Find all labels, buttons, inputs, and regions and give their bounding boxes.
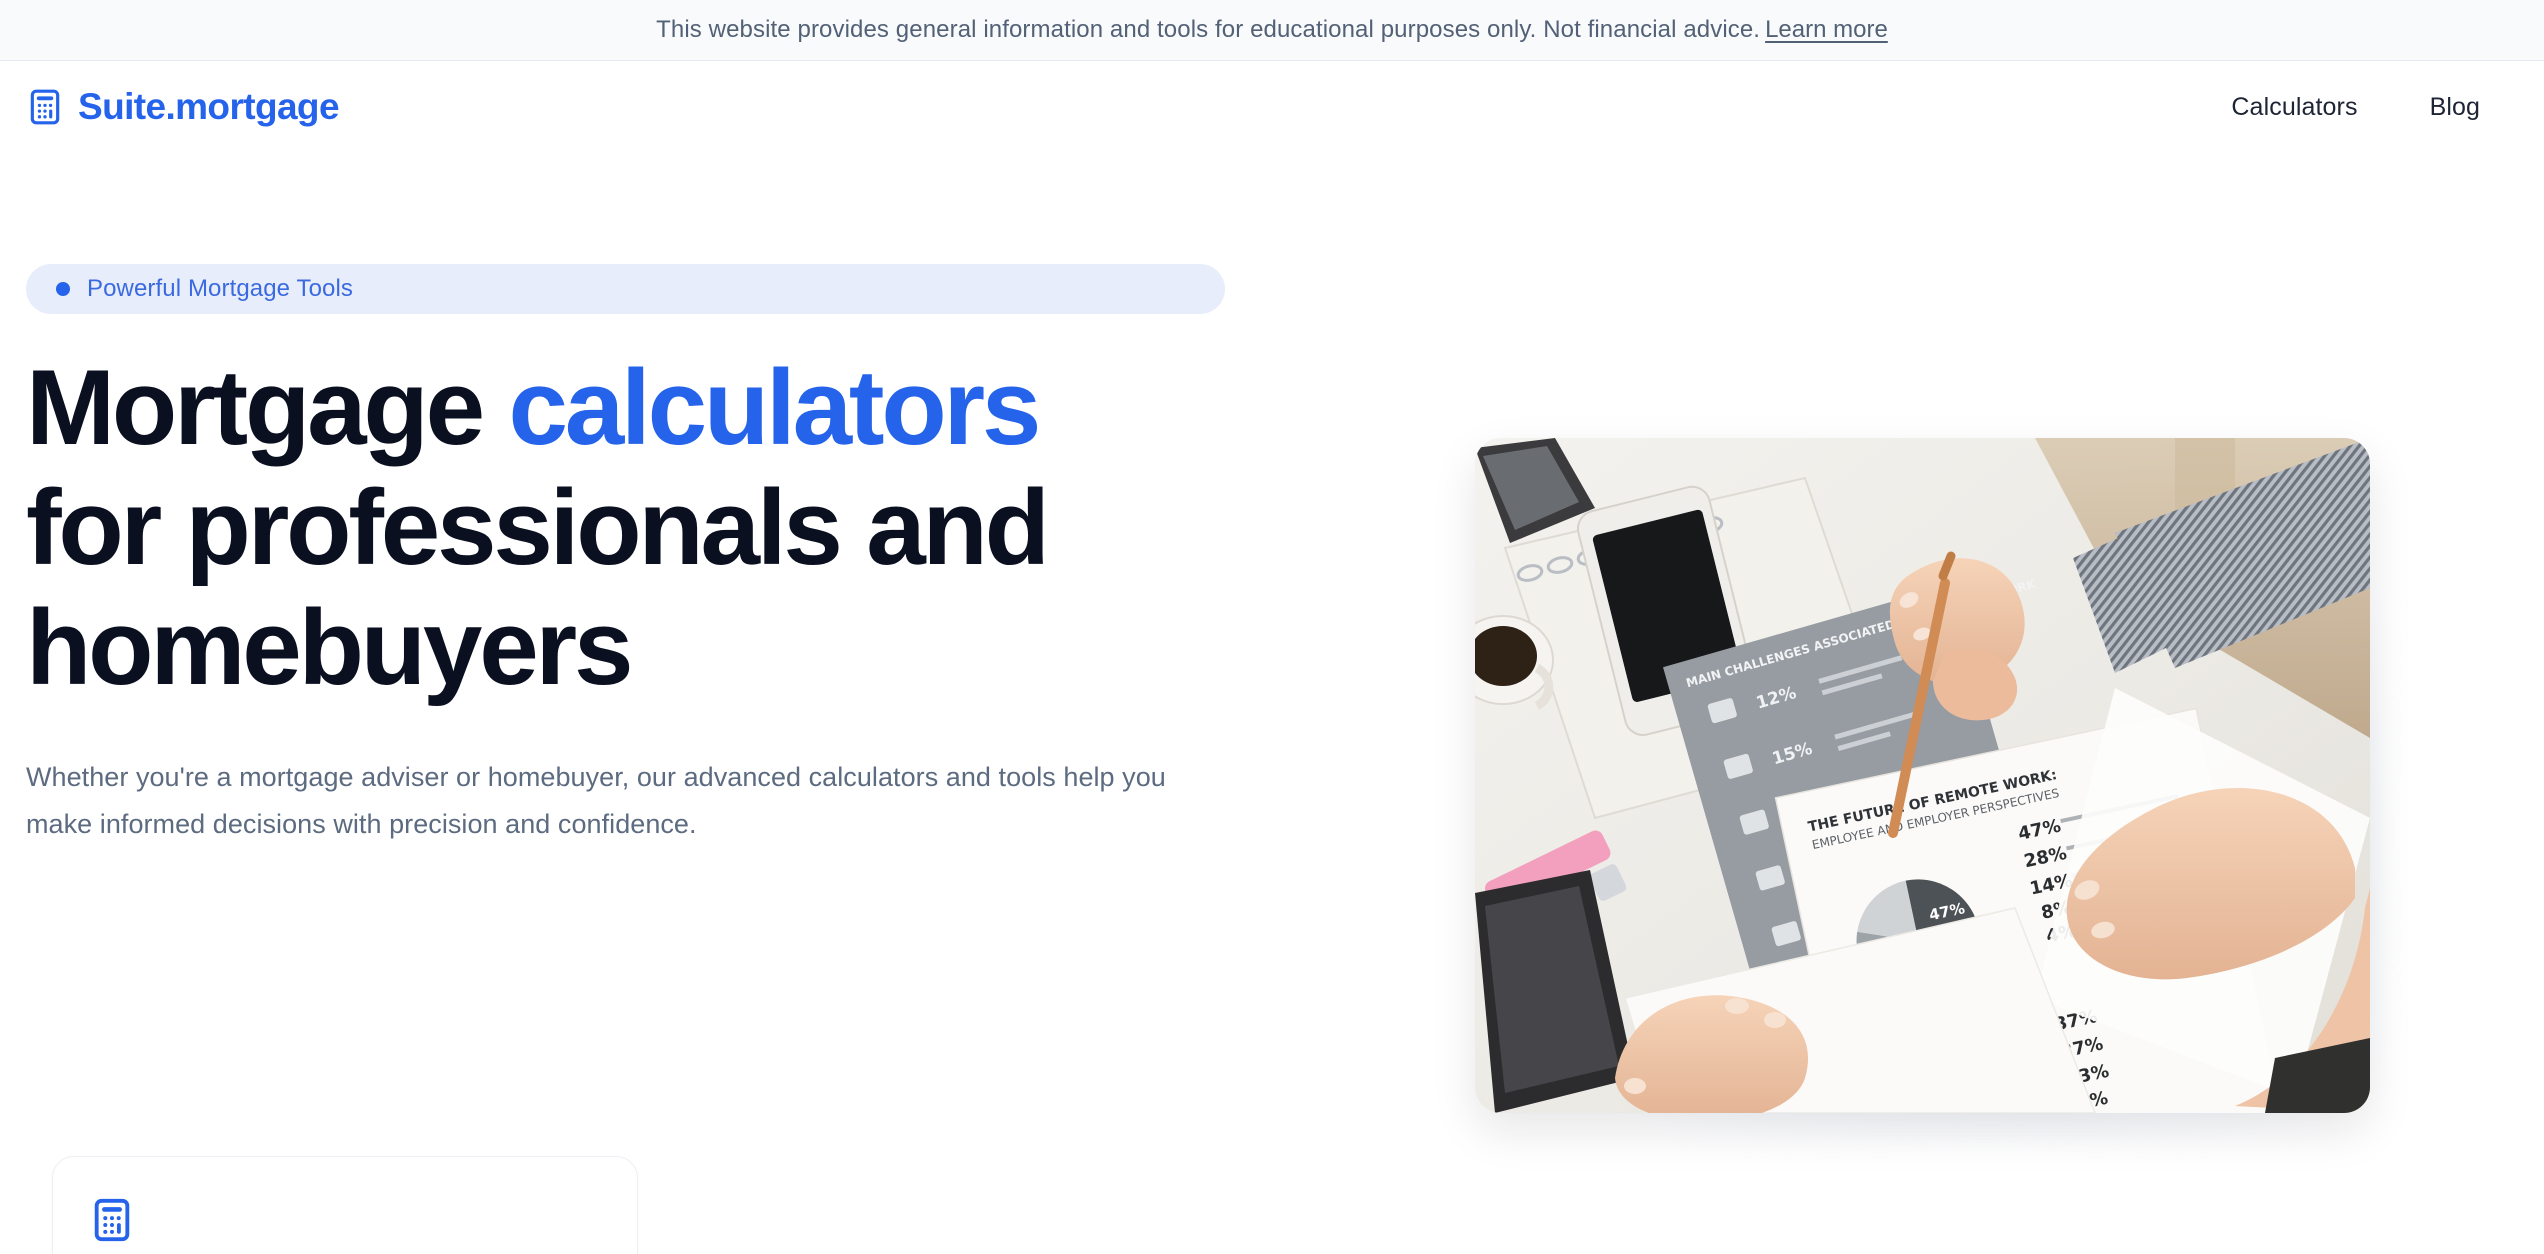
hero-subtitle: Whether you're a mortgage adviser or hom… (26, 754, 1206, 847)
dot-icon (56, 282, 70, 296)
main-navigation: Calculators Blog (2231, 93, 2504, 122)
hero-photo-illustration: 12% 15% 21% 25% 35% 69% (1475, 438, 2370, 1113)
hero-title-line1-plain: Mortgage (26, 347, 508, 467)
nav-link-blog[interactable]: Blog (2430, 93, 2480, 122)
hero-title-line3: homebuyers (26, 587, 630, 707)
calculator-icon (89, 1197, 601, 1243)
page-title: Mortgage calculatorsfor professionals an… (26, 348, 1216, 707)
hero-title-accent: calculators (508, 347, 1038, 467)
brand-logo[interactable]: Suite.mortgage (26, 86, 339, 128)
hero-badge: Powerful Mortgage Tools (26, 264, 1225, 314)
feature-card-payment-calculator[interactable]: Payment Calculator Calculate monthly mor… (52, 1156, 638, 1254)
hero-text-column: Powerful Mortgage Tools Mortgage calcula… (26, 153, 1286, 1254)
site-header: Suite.mortgage Calculators Blog (0, 61, 2544, 153)
hero-title-line2: for professionals and (26, 467, 1047, 587)
brand-name: Suite.mortgage (78, 86, 339, 128)
hero-badge-label: Powerful Mortgage Tools (87, 275, 353, 303)
hero-section: Powerful Mortgage Tools Mortgage calcula… (0, 153, 2544, 1254)
disclaimer-text: This website provides general informatio… (656, 16, 1760, 44)
learn-more-link[interactable]: Learn more (1765, 16, 1888, 44)
hero-image-container: 12% 15% 21% 25% 35% 69% (1475, 438, 2370, 1113)
nav-link-calculators[interactable]: Calculators (2231, 93, 2357, 122)
calculator-icon (26, 88, 64, 126)
hero-image: 12% 15% 21% 25% 35% 69% (1475, 438, 2370, 1113)
disclaimer-banner: This website provides general informatio… (0, 0, 2544, 61)
feature-cards-row: Payment Calculator Calculate monthly mor… (52, 1156, 638, 1254)
